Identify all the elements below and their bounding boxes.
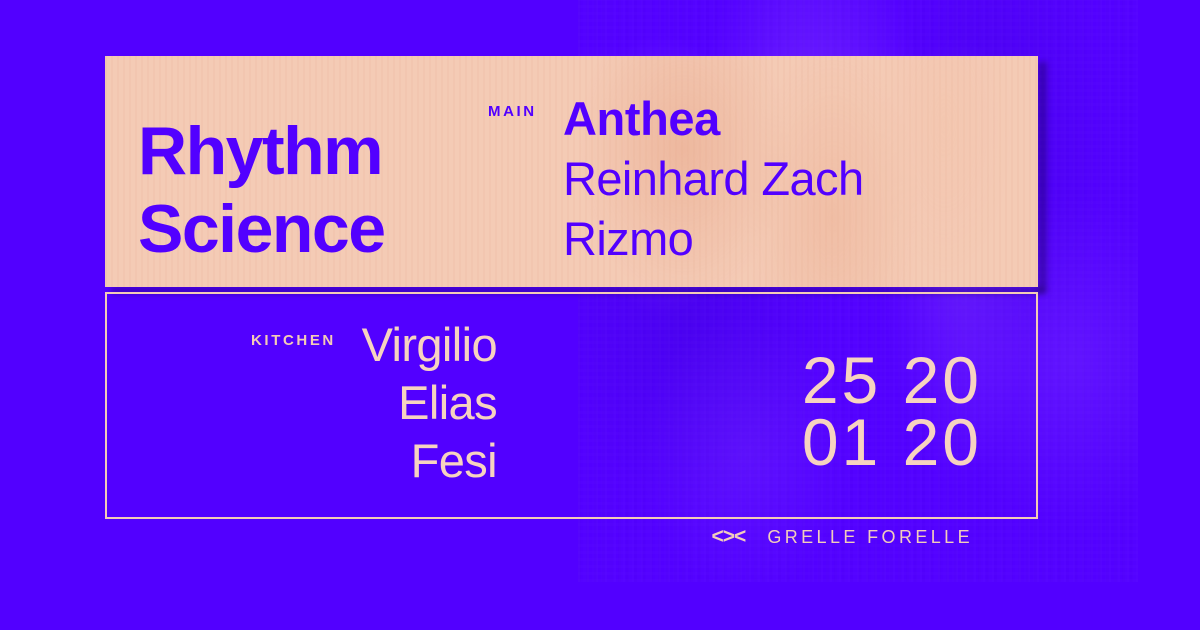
main-artist-3: Rizmo — [563, 209, 863, 269]
kitchen-artist-3: Fesi — [247, 432, 497, 490]
fish-logo-icon: <>< — [712, 526, 746, 547]
kitchen-stage-lineup: Virgilio Elias Fesi — [247, 316, 497, 490]
event-date-line-2: 01 20 — [707, 411, 982, 473]
event-title-line-2: Science — [138, 190, 385, 268]
main-panel-shadow — [1038, 62, 1047, 293]
venue-footer: <>< GRELLE FORELLE — [600, 526, 973, 547]
event-title: Rhythm Science — [138, 112, 385, 268]
main-stage-lineup: Anthea Reinhard Zach Rizmo — [563, 89, 863, 269]
kitchen-artist-1: Virgilio — [247, 316, 497, 374]
main-stage-panel: Rhythm Science MAIN Anthea Reinhard Zach… — [105, 56, 1038, 287]
event-date-line-1: 25 20 — [707, 349, 982, 411]
event-date: 25 20 01 20 — [707, 349, 982, 473]
main-artist-1: Anthea — [563, 89, 863, 149]
main-stage-label: MAIN — [488, 103, 537, 120]
event-flyer: Rhythm Science MAIN Anthea Reinhard Zach… — [0, 0, 1200, 630]
kitchen-artist-2: Elias — [247, 374, 497, 432]
venue-name: GRELLE FORELLE — [767, 528, 973, 546]
event-title-line-1: Rhythm — [138, 112, 385, 190]
main-artist-2: Reinhard Zach — [563, 149, 863, 209]
kitchen-stage-panel: KITCHEN Virgilio Elias Fesi 25 20 01 20 — [105, 292, 1038, 519]
